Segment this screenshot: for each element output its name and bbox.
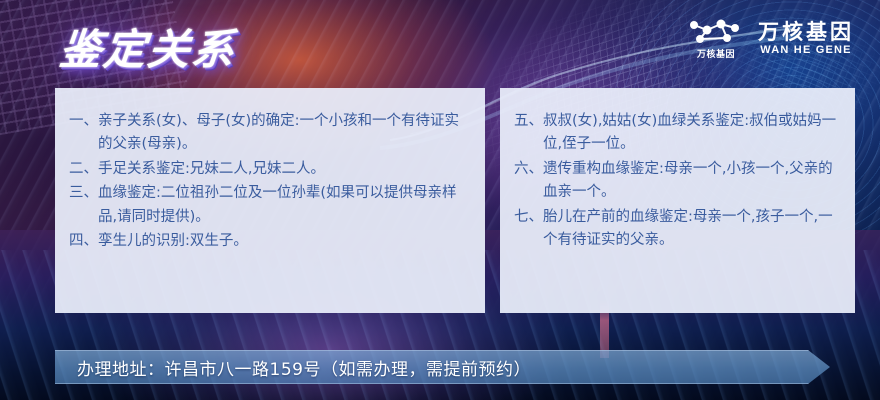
list-item-text: 亲子关系(女)、母子(女)的确定:一个小孩和一个有待证实的父亲(母亲)。 bbox=[98, 110, 469, 157]
list-item: 三、 血缘鉴定:二位祖孙二位及一位孙辈(如果可以提供母亲样品,请同时提供)。 bbox=[69, 182, 469, 229]
content-panel-right: 五、 叔叔(女),姑姑(女)血绿关系鉴定:叔伯或姑妈一位,侄子一位。 六、 遗传… bbox=[500, 88, 855, 313]
logo-mark: 万核基因 bbox=[687, 18, 745, 60]
brand-logo: 万核基因 万核基因 WAN HE GENE bbox=[687, 18, 854, 60]
list-item-text: 胎儿在产前的血缘鉴定:母亲一个,孩子一个,一个有待证实的父亲。 bbox=[543, 206, 839, 253]
list-item-number: 六、 bbox=[514, 158, 543, 205]
list-item-number: 四、 bbox=[69, 230, 98, 253]
list-item-number: 一、 bbox=[69, 110, 98, 157]
molecule-network-icon bbox=[687, 18, 745, 44]
list-item-text: 叔叔(女),姑姑(女)血绿关系鉴定:叔伯或姑妈一位,侄子一位。 bbox=[543, 110, 839, 157]
brand-name-cn: 万核基因 bbox=[758, 22, 854, 43]
address-banner: 办理地址：许昌市八一路159号（如需办理，需提前预约） bbox=[55, 350, 830, 384]
list-item-text: 遗传重构血缘鉴定:母亲一个,小孩一个,父亲的血亲一个。 bbox=[543, 158, 839, 205]
list-item-number: 二、 bbox=[69, 158, 98, 181]
logo-wordmark: 万核基因 WAN HE GENE bbox=[758, 22, 854, 56]
list-item-number: 三、 bbox=[69, 182, 98, 229]
list-item-number: 五、 bbox=[514, 110, 543, 157]
content-panel-left: 一、 亲子关系(女)、母子(女)的确定:一个小孩和一个有待证实的父亲(母亲)。 … bbox=[55, 88, 485, 313]
list-item: 一、 亲子关系(女)、母子(女)的确定:一个小孩和一个有待证实的父亲(母亲)。 bbox=[69, 110, 469, 157]
list-item: 四、 孪生儿的识别:双生子。 bbox=[69, 230, 469, 253]
list-item-text: 孪生儿的识别:双生子。 bbox=[98, 230, 469, 253]
list-item: 五、 叔叔(女),姑姑(女)血绿关系鉴定:叔伯或姑妈一位,侄子一位。 bbox=[514, 110, 839, 157]
list-item-text: 手足关系鉴定:兄妹二人,兄妹二人。 bbox=[98, 158, 469, 181]
list-item: 七、 胎儿在产前的血缘鉴定:母亲一个,孩子一个,一个有待证实的父亲。 bbox=[514, 206, 839, 253]
list-item: 六、 遗传重构血缘鉴定:母亲一个,小孩一个,父亲的血亲一个。 bbox=[514, 158, 839, 205]
list-item-text: 血缘鉴定:二位祖孙二位及一位孙辈(如果可以提供母亲样品,请同时提供)。 bbox=[98, 182, 469, 229]
list-item: 二、 手足关系鉴定:兄妹二人,兄妹二人。 bbox=[69, 158, 469, 181]
logo-mark-caption: 万核基因 bbox=[697, 47, 735, 60]
brand-name-en: WAN HE GENE bbox=[760, 45, 851, 56]
page-title: 鉴定关系 bbox=[57, 16, 239, 77]
list-item-number: 七、 bbox=[514, 206, 543, 253]
slide-canvas: 鉴定关系 bbox=[0, 0, 880, 400]
address-banner-text: 办理地址：许昌市八一路159号（如需办理，需提前预约） bbox=[55, 355, 531, 380]
